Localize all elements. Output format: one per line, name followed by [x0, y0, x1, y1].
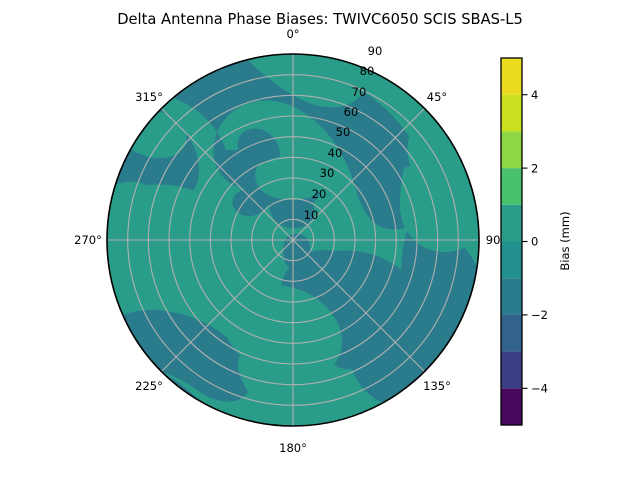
page-title: Delta Antenna Phase Biases: TWIVC6050 SC…	[117, 11, 523, 28]
colorbar-band-4	[501, 278, 522, 315]
angular-tick-45: 45°	[427, 90, 447, 104]
colorbar-band-10	[501, 58, 522, 95]
radial-tick-10: 10	[304, 208, 319, 222]
radial-tick-20: 20	[312, 187, 327, 201]
colorbar-band-9	[501, 95, 522, 132]
radial-tick-40: 40	[328, 146, 343, 160]
colorbar-band-3	[501, 315, 522, 352]
colorbar-band-6	[501, 205, 522, 242]
angular-tick-225: 225°	[135, 379, 163, 393]
angular-tick-0: 0°	[286, 27, 299, 41]
colorbar-bands	[501, 58, 522, 425]
polar-axes: 0° 45° 90° 135° 180° 225° 270° 315° 10 2…	[74, 27, 506, 455]
polar-grid	[107, 54, 479, 426]
radial-tick-30: 30	[320, 166, 335, 180]
polar-contour-figure: Delta Antenna Phase Biases: TWIVC6050 SC…	[0, 0, 640, 480]
angular-tick-315: 315°	[135, 90, 163, 104]
colorbar-band-7	[501, 168, 522, 205]
radial-tick-50: 50	[336, 125, 351, 139]
angular-tick-180: 180°	[279, 441, 307, 455]
colorbar-tick-label--4: −4	[531, 382, 548, 396]
colorbar-band-2	[501, 352, 522, 389]
radial-tick-90: 90	[368, 44, 383, 58]
colorbar-band-1	[501, 388, 522, 425]
colorbar-axis-label: Bias (mm)	[558, 211, 572, 270]
colorbar-band-5	[501, 242, 522, 279]
radial-tick-60: 60	[344, 105, 359, 119]
angular-tick-135: 135°	[423, 379, 451, 393]
radial-tick-80: 80	[360, 64, 375, 78]
colorbar-tick-label-2: 2	[531, 161, 538, 175]
colorbar-tick-label--2: −2	[531, 308, 548, 322]
radial-tick-70: 70	[352, 85, 367, 99]
colorbar-band-8	[501, 131, 522, 168]
colorbar-tick-label-4: 4	[531, 88, 538, 102]
colorbar-tick-label-0: 0	[531, 235, 538, 249]
angular-tick-270: 270°	[74, 233, 102, 247]
